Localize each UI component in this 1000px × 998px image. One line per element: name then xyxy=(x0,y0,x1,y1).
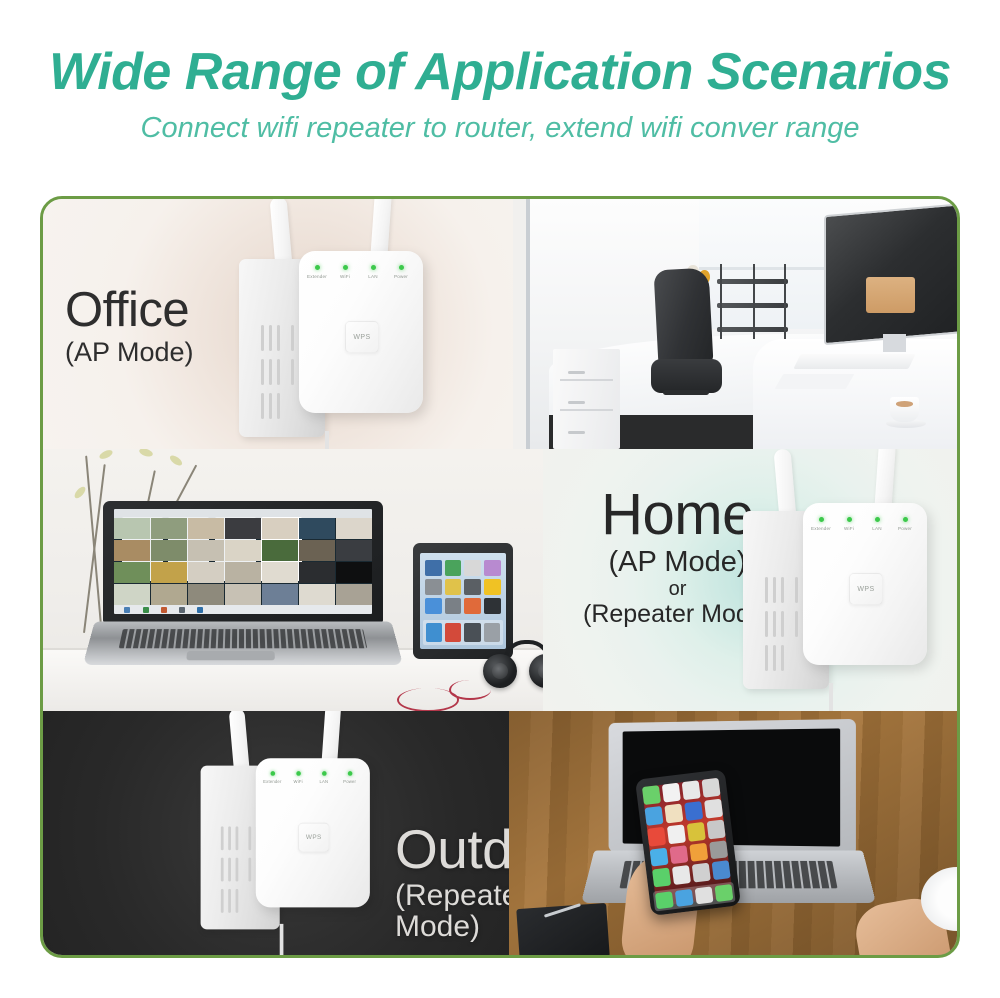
header: Wide Range of Application Scenarios Conn… xyxy=(0,0,1000,182)
office-chair xyxy=(651,269,722,424)
device-led-strip: Extender WiFi LAN Power xyxy=(265,771,366,793)
device-power-cord xyxy=(280,924,284,955)
office-cabinet xyxy=(553,349,620,449)
outdoors-product-pane: Extender WiFi LAN Power WPS Outdoors (Re… xyxy=(43,711,509,955)
led-extender xyxy=(315,265,320,270)
laptop-screen xyxy=(114,509,372,615)
led-power xyxy=(399,265,404,270)
led-label-lan: LAN xyxy=(872,526,882,531)
notebook xyxy=(516,903,609,955)
outdoors-scenario-name: Outdoors xyxy=(395,821,509,879)
office-photo-pane xyxy=(513,199,957,449)
led-label-lan: LAN xyxy=(319,779,328,784)
led-label-power: Power xyxy=(343,779,356,784)
tablet-screen xyxy=(420,553,506,650)
led-lan xyxy=(371,265,376,270)
led-label-power: Power xyxy=(898,526,912,531)
outdoors-label-block: Outdoors (Repeater Mode) xyxy=(395,821,509,943)
smartphone-app-grid xyxy=(643,778,732,888)
page-title: Wide Range of Application Scenarios xyxy=(0,42,1000,102)
led-extender xyxy=(271,771,276,776)
office-keyboard xyxy=(793,354,916,369)
laptop-keyboard xyxy=(118,629,367,649)
device-led-strip: Extender WiFi LAN Power xyxy=(813,517,923,541)
laptop-taskbar xyxy=(114,605,372,615)
smartphone xyxy=(635,769,741,916)
led-power xyxy=(348,771,353,776)
laptop-trackpad xyxy=(186,651,275,660)
browser-photo-grid xyxy=(114,518,372,605)
office-label-block: Office (AP Mode) xyxy=(65,285,194,366)
laptop-lid xyxy=(103,501,383,621)
product-marketing-image: Wide Range of Application Scenarios Conn… xyxy=(0,0,1000,998)
page-subtitle: Connect wifi repeater to router, extend … xyxy=(0,112,1000,145)
led-label-wifi: WiFi xyxy=(294,779,303,784)
led-power xyxy=(903,517,908,522)
office-mode-label: (AP Mode) xyxy=(65,338,194,366)
office-product-pane: Office (AP Mode) xyxy=(43,199,513,449)
led-label-power: Power xyxy=(394,274,408,279)
office-monitor xyxy=(824,209,957,339)
led-label-wifi: WiFi xyxy=(340,274,350,279)
scenario-row-outdoors: Extender WiFi LAN Power WPS Outdoors (Re… xyxy=(43,711,957,955)
wifi-repeater-device-office: Extender WiFi LAN Power WPS xyxy=(239,217,429,449)
scenario-collage: Office (AP Mode) xyxy=(40,196,960,958)
led-label-lan: LAN xyxy=(368,274,378,279)
led-wifi xyxy=(847,517,852,522)
outdoors-scene xyxy=(509,711,957,955)
office-scenario-name: Office xyxy=(65,285,194,336)
outdoors-photo-pane xyxy=(509,711,957,955)
wifi-repeater-device-home: Extender WiFi LAN Power WPS xyxy=(743,469,933,711)
wifi-repeater-device-outdoors: Extender WiFi LAN Power WPS xyxy=(201,727,376,955)
device-led-strip: Extender WiFi LAN Power xyxy=(309,265,419,289)
home-product-pane: Home (AP Mode) or (Repeater Mode) xyxy=(543,449,957,711)
home-headphones xyxy=(483,638,543,706)
tablet-app-grid xyxy=(425,560,501,614)
office-scene xyxy=(513,199,957,449)
wps-button[interactable]: WPS xyxy=(345,321,379,353)
device-power-cord xyxy=(829,683,833,711)
office-file-tray xyxy=(717,264,788,339)
laptop-base xyxy=(83,622,403,665)
led-label-wifi: WiFi xyxy=(844,526,854,531)
led-label-extender: Extender xyxy=(811,526,831,531)
wps-button[interactable]: WPS xyxy=(849,573,883,605)
led-lan xyxy=(322,771,327,776)
led-label-extender: Extender xyxy=(307,274,327,279)
led-lan xyxy=(875,517,880,522)
scenario-row-home: Home (AP Mode) or (Repeater Mode) xyxy=(43,449,957,711)
office-papers xyxy=(775,374,855,389)
led-wifi xyxy=(296,771,301,776)
led-label-extender: Extender xyxy=(263,779,281,784)
office-partition-post xyxy=(526,199,530,449)
led-extender xyxy=(819,517,824,522)
pen xyxy=(544,904,581,918)
office-coffee-cup xyxy=(886,394,926,434)
wps-button[interactable]: WPS xyxy=(298,823,329,852)
device-power-cord xyxy=(325,431,329,449)
scenario-row-office: Office (AP Mode) xyxy=(43,199,957,449)
home-photo-pane xyxy=(43,449,543,711)
home-laptop xyxy=(103,501,383,663)
outdoors-mode-label: (Repeater Mode) xyxy=(395,880,509,943)
home-scene xyxy=(43,449,543,711)
led-wifi xyxy=(343,265,348,270)
